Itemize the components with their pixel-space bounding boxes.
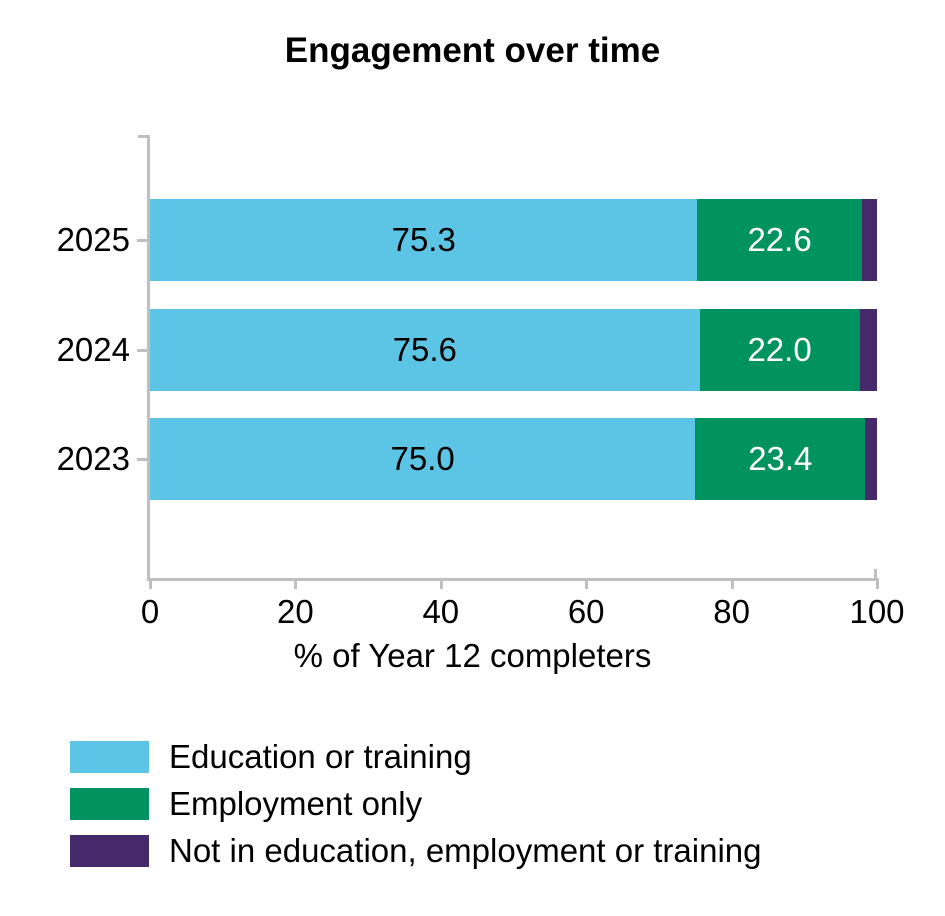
y-tick-label-2023: 2023: [0, 440, 130, 478]
bar-segment[interactable]: 22.6: [697, 199, 861, 281]
bar-row: 75.322.6: [150, 199, 877, 281]
legend-swatch: [70, 788, 149, 820]
legend-swatch: [70, 835, 149, 867]
legend-item[interactable]: Not in education, employment or training: [70, 827, 762, 874]
x-tick: [149, 578, 152, 589]
legend-swatch: [70, 741, 149, 773]
plot-area: 020406080100 202520242023 75.322.675.622…: [150, 135, 877, 578]
chart-figure: Engagement over time 020406080100 202520…: [0, 0, 945, 916]
bar-value-label: 75.3: [392, 221, 456, 259]
x-tick: [731, 578, 734, 589]
bar-segment[interactable]: [865, 418, 877, 500]
bar-value-label: 75.0: [391, 440, 455, 478]
bar-segment[interactable]: 75.6: [150, 309, 700, 391]
x-tick-label: 40: [381, 593, 501, 631]
x-tick-label: 80: [672, 593, 792, 631]
x-tick: [294, 578, 297, 589]
x-axis-title: % of Year 12 completers: [0, 636, 945, 676]
chart-title: Engagement over time: [0, 30, 945, 72]
bar-row: 75.023.4: [150, 418, 877, 500]
bar-value-label: 22.0: [747, 331, 811, 369]
legend-label: Employment only: [169, 785, 422, 823]
y-axis-top-cap: [138, 135, 148, 138]
bar-row: 75.622.0: [150, 309, 877, 391]
x-tick-label: 100: [817, 593, 937, 631]
legend-item[interactable]: Employment only: [70, 780, 762, 827]
x-tick-label: 20: [235, 593, 355, 631]
x-tick: [585, 578, 588, 589]
bar-value-label: 23.4: [748, 440, 812, 478]
bar-segment[interactable]: [860, 309, 877, 391]
y-tick: [137, 458, 148, 461]
bar-segment[interactable]: 22.0: [700, 309, 860, 391]
legend-label: Education or training: [169, 738, 472, 776]
bar-value-label: 22.6: [747, 221, 811, 259]
legend-label: Not in education, employment or training: [169, 832, 762, 870]
x-tick-label: 0: [90, 593, 210, 631]
y-tick: [137, 349, 148, 352]
x-axis-line: [147, 578, 877, 581]
x-tick-label: 60: [526, 593, 646, 631]
x-tick: [440, 578, 443, 589]
legend-item[interactable]: Education or training: [70, 733, 762, 780]
y-tick: [137, 239, 148, 242]
bar-segment[interactable]: 75.3: [150, 199, 697, 281]
bar-value-label: 75.6: [393, 331, 457, 369]
x-tick: [876, 578, 879, 589]
bar-segment[interactable]: 23.4: [695, 418, 865, 500]
y-tick-label-2025: 2025: [0, 221, 130, 259]
chart-legend: Education or trainingEmployment onlyNot …: [70, 733, 762, 874]
bar-segment[interactable]: 75.0: [150, 418, 695, 500]
bar-segment[interactable]: [862, 199, 877, 281]
y-tick-label-2024: 2024: [0, 331, 130, 369]
